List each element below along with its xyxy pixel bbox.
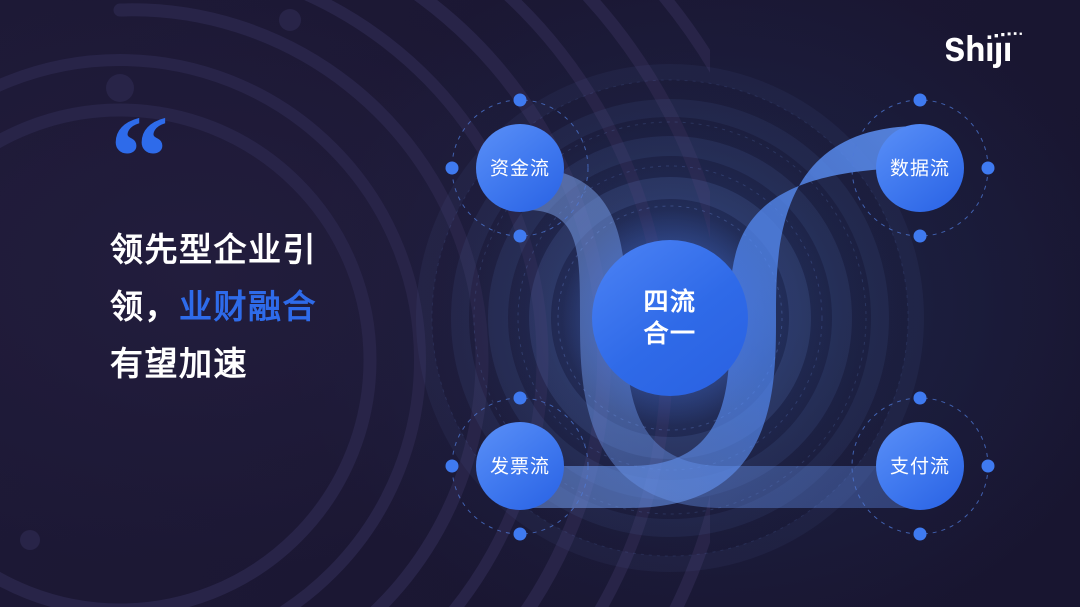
headline-line-2: 领，业财融合 [110, 279, 410, 336]
invoice-flow-dot-top [514, 392, 527, 405]
payment-flow-dot-right [982, 460, 995, 473]
center-node[interactable]: 四流 合一 [562, 210, 778, 426]
center-node-label-line1: 四流 [643, 288, 696, 316]
headline-text: 领先型企业引 [110, 231, 317, 268]
invoice-flow-dot-left [446, 460, 459, 473]
quote-mark-icon: “ [110, 120, 410, 206]
data-flow-label: 数据流 [890, 158, 950, 180]
data-flow-dot-right [982, 162, 995, 175]
data-flow-dot-bottom [914, 230, 927, 243]
headline-line-1: 领先型企业引 [110, 222, 410, 279]
payment-flow-dot-top [914, 392, 927, 405]
invoice-flow-label: 发票流 [490, 456, 550, 478]
payment-flow-label: 支付流 [890, 456, 950, 478]
center-node-circle [592, 240, 748, 396]
data-flow-dot-top [914, 94, 927, 107]
headline-text: 领， [110, 288, 179, 325]
quote-block: “ 领先型企业引 领，业财融合 有望加速 [110, 120, 410, 392]
slide-canvas: “ 领先型企业引 领，业财融合 有望加速 [0, 0, 1080, 607]
headline-text: 有望加速 [110, 345, 248, 382]
four-flows-diagram: 四流 合一 资金流 数据流 [400, 38, 1040, 578]
invoice-flow-dot-bottom [514, 528, 527, 541]
headline-line-3: 有望加速 [110, 336, 410, 393]
page-title: 领先型企业引 领，业财融合 有望加速 [110, 222, 410, 392]
capital-flow-dot-left [446, 162, 459, 175]
capital-flow-dot-bottom [514, 230, 527, 243]
capital-flow-dot-top [514, 94, 527, 107]
center-node-label-line2: 合一 [643, 319, 696, 348]
capital-flow-label: 资金流 [490, 158, 550, 180]
payment-flow-dot-bottom [914, 528, 927, 541]
headline-accent-text: 业财融合 [179, 288, 317, 325]
